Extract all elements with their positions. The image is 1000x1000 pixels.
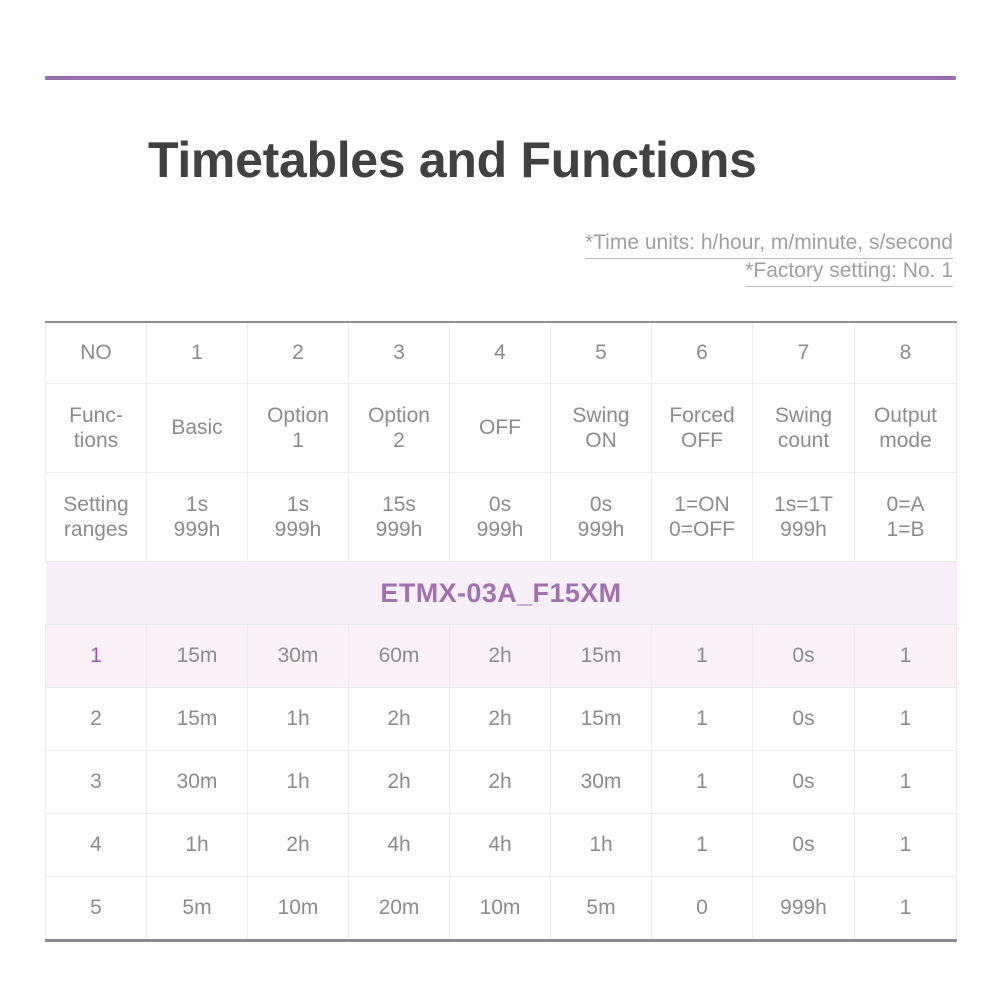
header-label-functions-line1: Func-: [48, 403, 144, 428]
cell-r3-c8: 1: [855, 751, 957, 814]
table-row[interactable]: 2 15m 1h 2h 2h 15m 1 0s 1: [46, 688, 957, 751]
range-col-2: 1s 999h: [248, 473, 349, 562]
function-col-5-line1: Swing: [553, 403, 649, 428]
range-col-5-line2: 999h: [553, 517, 649, 542]
header-label-setting-line2: ranges: [48, 517, 144, 542]
function-col-3-line1: Option: [351, 403, 447, 428]
function-col-3-line2: 2: [351, 428, 447, 453]
cell-r4-c2: 2h: [248, 814, 349, 877]
function-col-1: Basic: [147, 384, 248, 473]
cell-r5-c7: 999h: [753, 877, 855, 941]
range-col-7: 1s=1T 999h: [753, 473, 855, 562]
row-no-label: 4: [46, 814, 147, 877]
header-label-functions-line2: tions: [48, 428, 144, 453]
range-col-8-line1: 0=A: [857, 492, 954, 517]
notes-block: *Time units: h/hour, m/minute, s/second …: [585, 231, 953, 287]
cell-r1-c6: 1: [652, 625, 753, 688]
cell-r1-c3: 60m: [349, 625, 450, 688]
cell-r3-c3: 2h: [349, 751, 450, 814]
function-col-6: Forced OFF: [652, 384, 753, 473]
document-page: Timetables and Functions *Time units: h/…: [0, 0, 1000, 1000]
cell-r2-c7: 0s: [753, 688, 855, 751]
range-col-1-line1: 1s: [149, 492, 245, 517]
function-col-8-line1: Output: [857, 403, 954, 428]
cell-r4-c7: 0s: [753, 814, 855, 877]
cell-r3-c4: 2h: [450, 751, 551, 814]
range-col-3: 15s 999h: [349, 473, 450, 562]
cell-r3-c6: 1: [652, 751, 753, 814]
header-col-5: 5: [551, 322, 652, 384]
function-col-1-line1: Basic: [149, 415, 245, 440]
row-no-label: 1: [46, 625, 147, 688]
function-col-2: Option 1: [248, 384, 349, 473]
header-label-functions: Func- tions: [46, 384, 147, 473]
range-col-2-line1: 1s: [250, 492, 346, 517]
cell-r2-c3: 2h: [349, 688, 450, 751]
cell-r5-c3: 20m: [349, 877, 450, 941]
cell-r4-c8: 1: [855, 814, 957, 877]
note-row-factory-setting: *Factory setting: No. 1: [585, 259, 953, 287]
header-row-setting-ranges: Setting ranges 1s 999h 1s 999h 15s 999h …: [46, 473, 957, 562]
note-row-time-units: *Time units: h/hour, m/minute, s/second: [585, 231, 953, 259]
cell-r3-c2: 1h: [248, 751, 349, 814]
note-time-units: *Time units: h/hour, m/minute, s/second: [585, 231, 953, 259]
row-no-label: 2: [46, 688, 147, 751]
range-col-1-line2: 999h: [149, 517, 245, 542]
cell-r5-c1: 5m: [147, 877, 248, 941]
header-col-6: 6: [652, 322, 753, 384]
header-col-7: 7: [753, 322, 855, 384]
function-col-2-line2: 1: [250, 428, 346, 453]
cell-r2-c4: 2h: [450, 688, 551, 751]
cell-r2-c8: 1: [855, 688, 957, 751]
function-col-5-line2: ON: [553, 428, 649, 453]
function-col-6-line2: OFF: [654, 428, 750, 453]
table-row[interactable]: 3 30m 1h 2h 2h 30m 1 0s 1: [46, 751, 957, 814]
cell-r5-c4: 10m: [450, 877, 551, 941]
range-col-2-line2: 999h: [250, 517, 346, 542]
function-col-6-line1: Forced: [654, 403, 750, 428]
header-col-1: 1: [147, 322, 248, 384]
timetable-functions-table: NO 1 2 3 4 5 6 7 8 Func- tions Basic: [45, 321, 957, 942]
cell-r5-c5: 5m: [551, 877, 652, 941]
cell-r1-c2: 30m: [248, 625, 349, 688]
cell-r4-c6: 1: [652, 814, 753, 877]
range-col-4: 0s 999h: [450, 473, 551, 562]
function-col-8-line2: mode: [857, 428, 954, 453]
function-col-3: Option 2: [349, 384, 450, 473]
function-col-5: Swing ON: [551, 384, 652, 473]
range-col-6-line1: 1=ON: [654, 492, 750, 517]
cell-r4-c5: 1h: [551, 814, 652, 877]
cell-r5-c8: 1: [855, 877, 957, 941]
table-row[interactable]: 5 5m 10m 20m 10m 5m 0 999h 1: [46, 877, 957, 941]
row-no-label: 5: [46, 877, 147, 941]
function-col-8: Output mode: [855, 384, 957, 473]
header-col-4: 4: [450, 322, 551, 384]
header-label-setting-line1: Setting: [48, 492, 144, 517]
range-col-3-line1: 15s: [351, 492, 447, 517]
cell-r4-c1: 1h: [147, 814, 248, 877]
header-row-functions: Func- tions Basic Option 1 Option 2 OFF: [46, 384, 957, 473]
table-row[interactable]: 1 15m 30m 60m 2h 15m 1 0s 1: [46, 625, 957, 688]
cell-r3-c7: 0s: [753, 751, 855, 814]
range-col-4-line2: 999h: [452, 517, 548, 542]
cell-r2-c1: 15m: [147, 688, 248, 751]
note-factory-setting: *Factory setting: No. 1: [745, 259, 953, 287]
range-col-6: 1=ON 0=OFF: [652, 473, 753, 562]
function-col-4-line1: OFF: [452, 415, 548, 440]
header-label-no: NO: [46, 322, 147, 384]
cell-r1-c1: 15m: [147, 625, 248, 688]
range-col-5: 0s 999h: [551, 473, 652, 562]
range-col-7-line1: 1s=1T: [755, 492, 852, 517]
cell-r2-c6: 1: [652, 688, 753, 751]
function-col-7-line1: Swing: [755, 403, 852, 428]
range-col-1: 1s 999h: [147, 473, 248, 562]
function-col-4: OFF: [450, 384, 551, 473]
cell-r3-c5: 30m: [551, 751, 652, 814]
model-banner-row: ETMX-03A_F15XM: [46, 562, 957, 625]
header-row-no: NO 1 2 3 4 5 6 7 8: [46, 322, 957, 384]
function-col-7: Swing count: [753, 384, 855, 473]
function-col-7-line2: count: [755, 428, 852, 453]
cell-r1-c4: 2h: [450, 625, 551, 688]
cell-r2-c5: 15m: [551, 688, 652, 751]
range-col-5-line1: 0s: [553, 492, 649, 517]
range-col-4-line1: 0s: [452, 492, 548, 517]
header-col-3: 3: [349, 322, 450, 384]
cell-r2-c2: 1h: [248, 688, 349, 751]
header-col-8: 8: [855, 322, 957, 384]
range-col-7-line2: 999h: [755, 517, 852, 542]
cell-r5-c6: 0: [652, 877, 753, 941]
cell-r4-c4: 4h: [450, 814, 551, 877]
row-no-label: 3: [46, 751, 147, 814]
range-col-8: 0=A 1=B: [855, 473, 957, 562]
range-col-3-line2: 999h: [351, 517, 447, 542]
range-col-6-line2: 0=OFF: [654, 517, 750, 542]
cell-r1-c5: 15m: [551, 625, 652, 688]
top-accent-rule: [45, 76, 956, 80]
header-col-2: 2: [248, 322, 349, 384]
model-banner-label: ETMX-03A_F15XM: [46, 562, 957, 625]
page-title: Timetables and Functions: [148, 131, 757, 189]
function-col-2-line1: Option: [250, 403, 346, 428]
cell-r1-c7: 0s: [753, 625, 855, 688]
cell-r3-c1: 30m: [147, 751, 248, 814]
cell-r4-c3: 4h: [349, 814, 450, 877]
table-row[interactable]: 4 1h 2h 4h 4h 1h 1 0s 1: [46, 814, 957, 877]
cell-r5-c2: 10m: [248, 877, 349, 941]
header-label-setting-ranges: Setting ranges: [46, 473, 147, 562]
range-col-8-line2: 1=B: [857, 517, 954, 542]
cell-r1-c8: 1: [855, 625, 957, 688]
